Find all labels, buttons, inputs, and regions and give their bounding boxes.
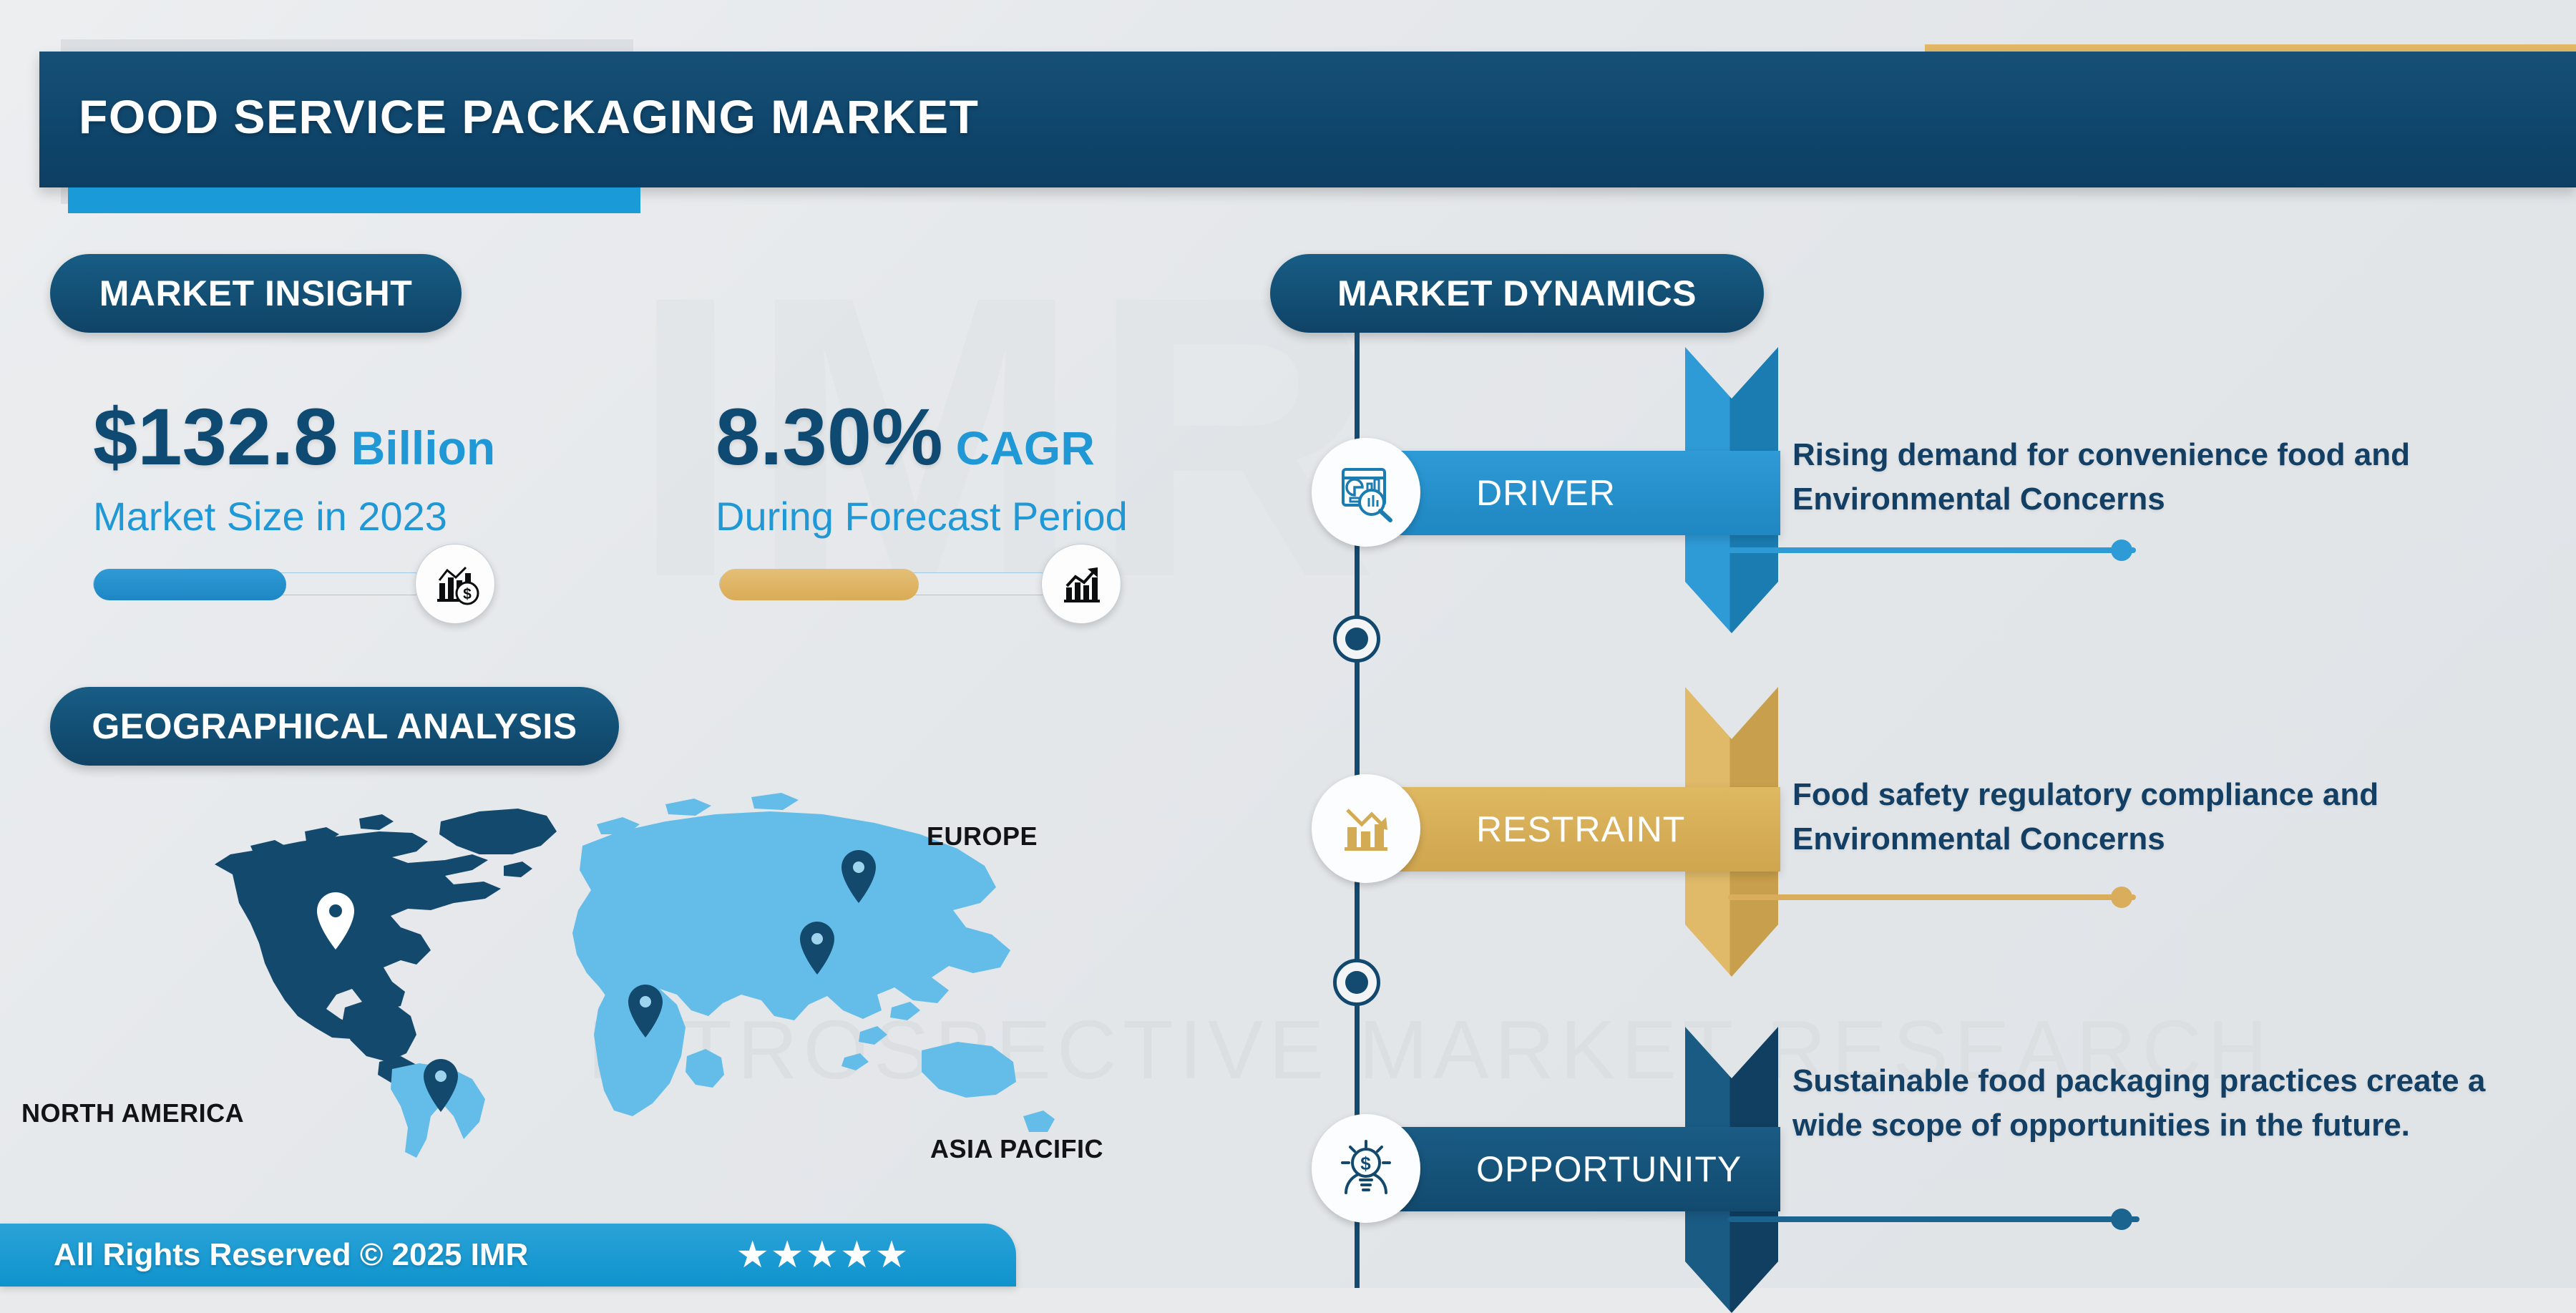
section-heading-market-insight: MARKET INSIGHT	[50, 254, 462, 333]
section-heading-geographical-analysis: GEOGRAPHICAL ANALYSIS	[50, 687, 619, 766]
opportunity-description: Sustainable food packaging practices cre…	[1792, 1059, 2515, 1148]
report-analysis-magnifier-icon	[1312, 438, 1420, 547]
restraint-underline	[1728, 894, 2136, 900]
declining-bar-chart-icon	[1312, 774, 1420, 883]
cagr-caption: During Forecast Period	[716, 493, 1128, 540]
map-label-north-america: NORTH AMERICA	[21, 1098, 244, 1128]
bar-chart-dollar-icon: $	[415, 544, 495, 624]
driver-underline	[1728, 547, 2136, 553]
timeline-node-2	[1333, 959, 1380, 1006]
market-size-progress-track	[93, 572, 426, 595]
cagr-progress-track	[719, 572, 1052, 595]
driver-endpoint-dot	[2111, 540, 2132, 561]
driver-label: DRIVER	[1476, 472, 1616, 514]
copyright-text: All Rights Reserved © 2025 IMR	[54, 1237, 528, 1273]
restraint-label: RESTRAINT	[1476, 809, 1685, 850]
market-size-value: $132.8	[93, 397, 338, 477]
opportunity-label: OPPORTUNITY	[1476, 1148, 1742, 1190]
map-label-asia-pacific: ASIA PACIFIC	[930, 1134, 1103, 1164]
opportunity-tag[interactable]: $ OPPORTUNITY	[1355, 1127, 1780, 1211]
metric-market-size: $132.8Billion Market Size in 2023	[93, 397, 495, 540]
map-region-north-america[interactable]	[215, 809, 557, 1103]
footer-bar: All Rights Reserved © 2025 IMR ★★★★★	[0, 1224, 1016, 1287]
growth-chart-arrow-icon	[1041, 544, 1121, 624]
metric-cagr: 8.30%CAGR During Forecast Period	[716, 397, 1128, 540]
infographic-canvas: IMR INTROSPECTIVE MARKET RESEARCH FOOD S…	[0, 0, 2576, 1288]
market-size-progress-fill	[94, 569, 286, 600]
svg-text:$: $	[1360, 1153, 1371, 1174]
map-label-europe: EUROPE	[927, 821, 1038, 851]
rating-stars-icon: ★★★★★	[736, 1234, 909, 1277]
driver-description: Rising demand for convenience food and E…	[1792, 433, 2508, 522]
driver-tag[interactable]: DRIVER	[1355, 451, 1780, 535]
lightbulb-dollar-icon: $	[1312, 1114, 1420, 1223]
restraint-description: Food safety regulatory compliance and En…	[1792, 773, 2515, 862]
svg-text:$: $	[463, 586, 472, 602]
cagr-unit: CAGR	[956, 424, 1095, 472]
cagr-progress-fill	[720, 569, 919, 600]
market-size-caption: Market Size in 2023	[93, 493, 495, 540]
opportunity-endpoint-dot	[2111, 1209, 2132, 1230]
market-size-unit: Billion	[351, 424, 496, 472]
opportunity-underline	[1728, 1216, 2140, 1222]
timeline-node-1	[1333, 615, 1380, 663]
page-title: FOOD SERVICE PACKAGING MARKET	[79, 89, 979, 144]
header-blue-accent	[68, 187, 640, 213]
restraint-tag[interactable]: RESTRAINT	[1355, 787, 1780, 872]
world-map: NORTH AMERICA SOUTH AMERICA MIDDLE EAST …	[165, 780, 1088, 1159]
section-heading-market-dynamics: MARKET DYNAMICS	[1270, 254, 1764, 333]
cagr-value: 8.30%	[716, 397, 943, 477]
restraint-endpoint-dot	[2111, 887, 2132, 908]
